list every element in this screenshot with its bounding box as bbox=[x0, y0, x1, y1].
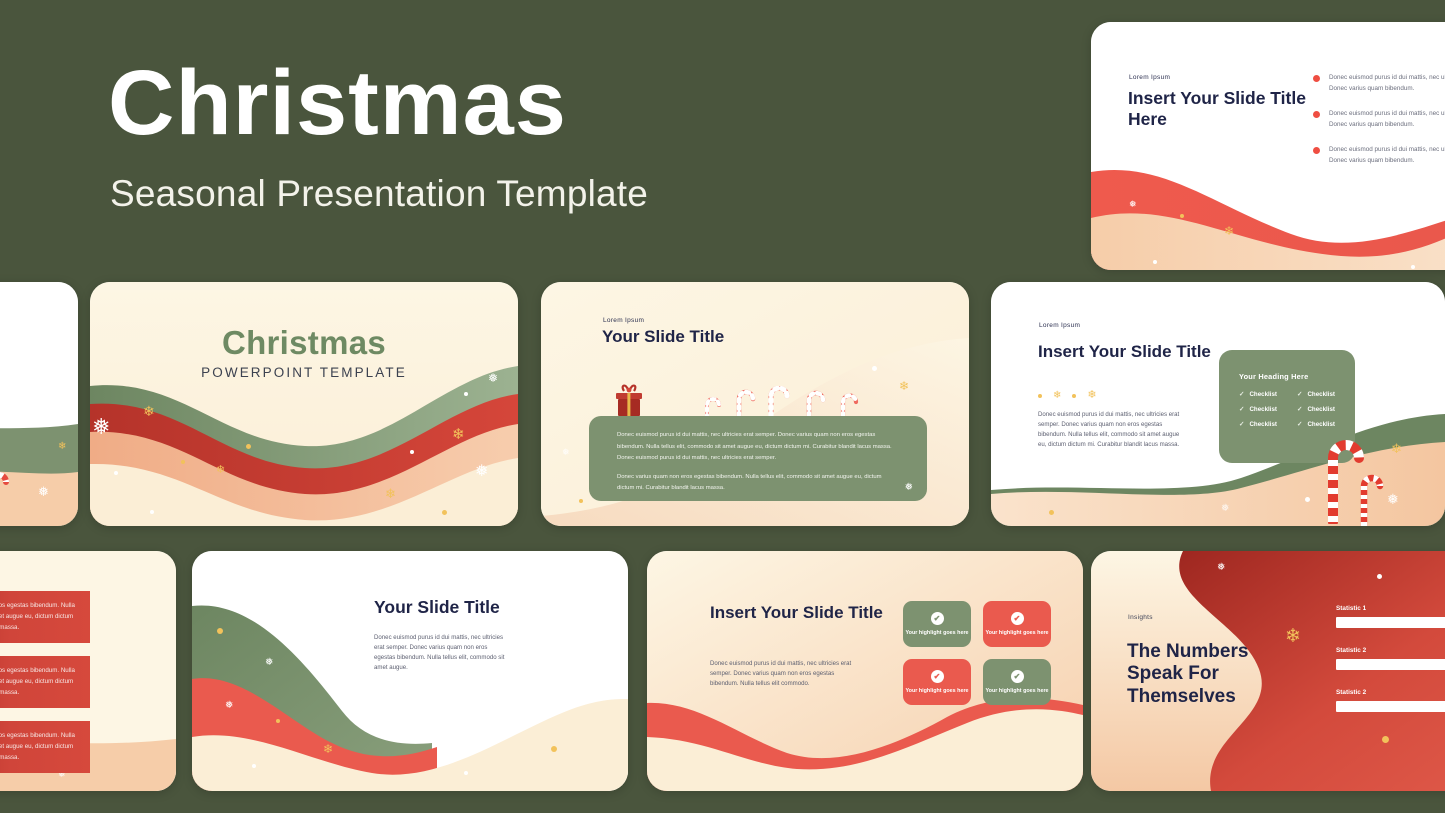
checklist-label: Checklist bbox=[1307, 406, 1335, 413]
statistic-bar bbox=[1336, 659, 1445, 670]
paragraph: Donec varius quam non eros egestas biben… bbox=[617, 472, 899, 495]
dot-decoration bbox=[1377, 574, 1382, 579]
dot-decoration bbox=[150, 510, 154, 514]
check-icon: ✓ bbox=[1239, 390, 1244, 398]
dot-decoration bbox=[872, 366, 877, 371]
snowflake-icon: ❅ bbox=[38, 485, 49, 498]
list-item: Donec euismod purus id dui mattis, nec u… bbox=[1313, 108, 1445, 130]
slide-eyebrow: Insights bbox=[1128, 614, 1153, 621]
dot-decoration bbox=[464, 771, 468, 775]
slide-preview-highlights[interactable]: Insert Your Slide Title Donec euismod pu… bbox=[647, 551, 1083, 791]
snowflake-icon: ❅ bbox=[475, 464, 488, 480]
bullet-dot-icon bbox=[1313, 111, 1320, 118]
checklist-item[interactable]: ✓Checklist bbox=[1297, 405, 1355, 413]
highlight-card[interactable]: ✔ Your highlight goes here bbox=[983, 601, 1051, 647]
snowflake-icon: ❅ bbox=[1129, 200, 1137, 209]
slide-title: Insert Your Slide Title bbox=[710, 603, 883, 623]
list-item: Donec euismod purus id dui mattis, nec u… bbox=[1313, 72, 1445, 94]
check-badge-icon: ✔ bbox=[931, 670, 944, 683]
red-bar-panel: Donec varius quam non eros egestas biben… bbox=[0, 591, 90, 643]
statistics-list: Statistic 1 Statistic 2 Statistic 2 bbox=[1336, 605, 1445, 731]
page-subtitle: Seasonal Presentation Template bbox=[110, 173, 648, 215]
dot-decoration bbox=[464, 392, 468, 396]
dot-decoration bbox=[1411, 265, 1415, 269]
page-title: Christmas bbox=[108, 57, 567, 149]
slide-preview-partial-left-row3[interactable]: ❅ Donec varius quam non eros egestas bib… bbox=[0, 551, 176, 791]
dot-decoration bbox=[252, 764, 256, 768]
dot-decoration bbox=[246, 444, 251, 449]
snowflake-icon: ❄ bbox=[143, 404, 155, 418]
slide-preview-statistics[interactable]: ❅ ❄ Insights The Numbers Speak For Thems… bbox=[1091, 551, 1445, 791]
slide-background: ❄ ❅ bbox=[0, 282, 78, 526]
slide-eyebrow: Lorem Ipsum bbox=[603, 317, 644, 324]
checklist-item[interactable]: ✓Checklist bbox=[1297, 390, 1355, 398]
check-badge-icon: ✔ bbox=[931, 612, 944, 625]
dot-decoration bbox=[1038, 394, 1042, 398]
snowflake-icon: ❄ bbox=[1391, 442, 1402, 455]
slide-body-text: Donec euismod purus id dui mattis, nec u… bbox=[1038, 410, 1184, 449]
highlight-grid: ✔ Your highlight goes here ✔ Your highli… bbox=[903, 601, 1051, 705]
dot-decoration bbox=[551, 746, 557, 752]
bullet-text: Donec euismod purus id dui mattis, nec u… bbox=[1329, 108, 1445, 130]
card-heading: Your Heading Here bbox=[1229, 372, 1355, 381]
dot-decoration bbox=[1382, 736, 1389, 743]
slide-preview-partial-left-row2[interactable]: ❄ ❅ bbox=[0, 282, 78, 526]
snowflake-icon: ❄ bbox=[58, 442, 66, 452]
check-badge-icon: ✔ bbox=[1011, 670, 1024, 683]
cover-subtitle: POWERPOINT TEMPLATE bbox=[90, 365, 518, 380]
highlight-label: Your highlight goes here bbox=[905, 688, 968, 696]
check-badge-icon: ✔ bbox=[1011, 612, 1024, 625]
bullet-dot-icon bbox=[1313, 147, 1320, 154]
check-icon: ✓ bbox=[1297, 405, 1302, 413]
dot-decoration bbox=[410, 450, 414, 454]
slide-eyebrow: Lorem Ipsum bbox=[1039, 322, 1080, 329]
statistic-bar bbox=[1336, 701, 1445, 712]
snowflake-icon: ❄ bbox=[1285, 627, 1301, 646]
slide-background: ❄ ❅ ❅ bbox=[991, 282, 1445, 526]
bullet-text: Donec euismod purus id dui mattis, nec u… bbox=[1329, 144, 1445, 166]
bullet-text: Donec euismod purus id dui mattis, nec u… bbox=[1329, 72, 1445, 94]
bullet-list: Donec euismod purus id dui mattis, nec u… bbox=[1313, 72, 1445, 180]
check-icon: ✓ bbox=[1239, 420, 1244, 428]
snowflake-icon: ❅ bbox=[1217, 563, 1225, 573]
highlight-card[interactable]: ✔ Your highlight goes here bbox=[903, 659, 971, 705]
checklist-item[interactable]: ✓Checklist bbox=[1239, 420, 1297, 428]
slide-title: The Numbers Speak For Themselves bbox=[1127, 641, 1267, 708]
highlight-label: Your highlight goes here bbox=[985, 630, 1048, 638]
snowflake-icon: ❅ bbox=[562, 448, 570, 457]
slide-preview-your-slide-title-textbox[interactable]: ❄ ❅ Lorem Ipsum Your Slide Title Donec e… bbox=[541, 282, 969, 526]
snowflake-icon: ❅ bbox=[265, 658, 273, 668]
candy-cane-icon bbox=[1356, 466, 1388, 526]
dot-decoration bbox=[1049, 510, 1054, 515]
snowflake-icon: ❄ bbox=[1224, 225, 1234, 237]
snowflake-icon: ❅ bbox=[92, 416, 110, 438]
slide-preview-your-slide-title-right[interactable]: ❅ ❅ ❄ Your Slide Title Donec euismod pur… bbox=[192, 551, 628, 791]
statistic-bar bbox=[1336, 617, 1445, 628]
slide-title: Your Slide Title bbox=[374, 597, 500, 618]
candy-cane-icon bbox=[0, 462, 12, 518]
dot-decoration bbox=[579, 499, 583, 503]
snowflake-icon: ❄ bbox=[452, 427, 465, 442]
dot-decoration bbox=[1305, 497, 1310, 502]
checklist-label: Checklist bbox=[1307, 421, 1335, 428]
checklist-grid: ✓Checklist ✓Checklist ✓Checklist ✓Checkl… bbox=[1229, 390, 1355, 428]
checklist-item[interactable]: ✓Checklist bbox=[1297, 420, 1355, 428]
statistic-row: Statistic 2 bbox=[1336, 689, 1445, 712]
check-icon: ✓ bbox=[1297, 390, 1302, 398]
snowflake-icon: ❄ bbox=[899, 380, 909, 392]
snowflake-icon: ❄ bbox=[1053, 391, 1061, 401]
checklist-label: Checklist bbox=[1249, 391, 1277, 398]
checklist-label: Checklist bbox=[1249, 406, 1277, 413]
check-icon: ✓ bbox=[1239, 405, 1244, 413]
snowflake-icon: ❅ bbox=[1221, 504, 1229, 514]
snowflake-icon: ❅ bbox=[225, 701, 233, 711]
snowflake-icon: ❅ bbox=[1387, 492, 1399, 506]
slide-body-text: Donec euismod purus id dui mattis, nec u… bbox=[374, 633, 506, 672]
slide-body-text: Donec euismod purus id dui mattis, nec u… bbox=[710, 659, 858, 689]
slide-eyebrow: Lorem Ipsum bbox=[1129, 74, 1170, 81]
checklist-label: Checklist bbox=[1249, 421, 1277, 428]
statistic-row: Statistic 1 bbox=[1336, 605, 1445, 628]
slide-title: Insert Your Slide Title Here bbox=[1128, 88, 1328, 129]
dot-decoration bbox=[114, 471, 118, 475]
slide-preview-cover-christmas[interactable]: ❅ ❄ ❄ ❅ ❄ ❅ ❄ Christmas POWERPOINT TEMPL… bbox=[90, 282, 518, 526]
list-item: Donec euismod purus id dui mattis, nec u… bbox=[1313, 144, 1445, 166]
decoration-row: ❄ ❄ bbox=[1038, 390, 1097, 401]
checklist-item[interactable]: ✓Checklist bbox=[1239, 405, 1297, 413]
statistic-row: Statistic 2 bbox=[1336, 647, 1445, 670]
red-bar-panel: Donec varius quam non eros egestas biben… bbox=[0, 656, 90, 708]
bar-text: Donec varius quam non eros egestas biben… bbox=[0, 666, 78, 699]
cover-text-block: Christmas POWERPOINT TEMPLATE bbox=[90, 324, 518, 380]
snowflake-icon: ❅ bbox=[905, 483, 913, 493]
snowflake-icon: ❄ bbox=[1087, 390, 1096, 401]
slide-preview-checklist[interactable]: ❄ ❅ ❅ Lorem Ipsum Insert Your Slide Titl… bbox=[991, 282, 1445, 526]
bar-text: Donec varius quam non eros egestas biben… bbox=[0, 731, 78, 764]
gift-box-icon bbox=[613, 382, 645, 418]
snowflake-icon: ❄ bbox=[216, 465, 225, 476]
checklist-item[interactable]: ✓Checklist bbox=[1239, 390, 1297, 398]
snowflake-icon: ❄ bbox=[385, 487, 396, 500]
dot-decoration bbox=[442, 510, 447, 515]
dot-decoration bbox=[276, 719, 280, 723]
bullet-dot-icon bbox=[1313, 75, 1320, 82]
slide-background: ❅ ❄ ❄ ❅ ❄ ❅ ❄ bbox=[90, 282, 518, 526]
statistic-label: Statistic 2 bbox=[1336, 647, 1445, 654]
cover-title: Christmas bbox=[90, 324, 518, 362]
slide-preview-insert-your-slide-title-here[interactable]: ❅ ❄ Lorem Ipsum Insert Your Slide Title … bbox=[1091, 22, 1445, 270]
highlight-label: Your highlight goes here bbox=[985, 688, 1048, 696]
snowflake-icon: ❄ bbox=[323, 743, 333, 755]
check-icon: ✓ bbox=[1297, 420, 1302, 428]
dot-decoration bbox=[217, 628, 223, 634]
red-bar-panel: Donec varius quam non eros egestas biben… bbox=[0, 721, 90, 773]
slide-title: Insert Your Slide Title bbox=[1038, 342, 1211, 362]
highlight-card[interactable]: ✔ Your highlight goes here bbox=[983, 659, 1051, 705]
slide-title: Your Slide Title bbox=[602, 327, 724, 347]
bar-text: Donec varius quam non eros egestas biben… bbox=[0, 601, 78, 634]
dot-decoration bbox=[1072, 394, 1076, 398]
dot-decoration bbox=[1180, 214, 1184, 218]
paragraph: Donec euismod purus id dui mattis, nec u… bbox=[617, 430, 899, 465]
statistic-label: Statistic 1 bbox=[1336, 605, 1445, 612]
dot-decoration bbox=[181, 460, 185, 464]
checklist-label: Checklist bbox=[1307, 391, 1335, 398]
statistic-label: Statistic 2 bbox=[1336, 689, 1445, 696]
highlight-card[interactable]: ✔ Your highlight goes here bbox=[903, 601, 971, 647]
highlight-label: Your highlight goes here bbox=[905, 630, 968, 638]
text-box-panel: Donec euismod purus id dui mattis, nec u… bbox=[589, 416, 927, 501]
dot-decoration bbox=[1153, 260, 1157, 264]
